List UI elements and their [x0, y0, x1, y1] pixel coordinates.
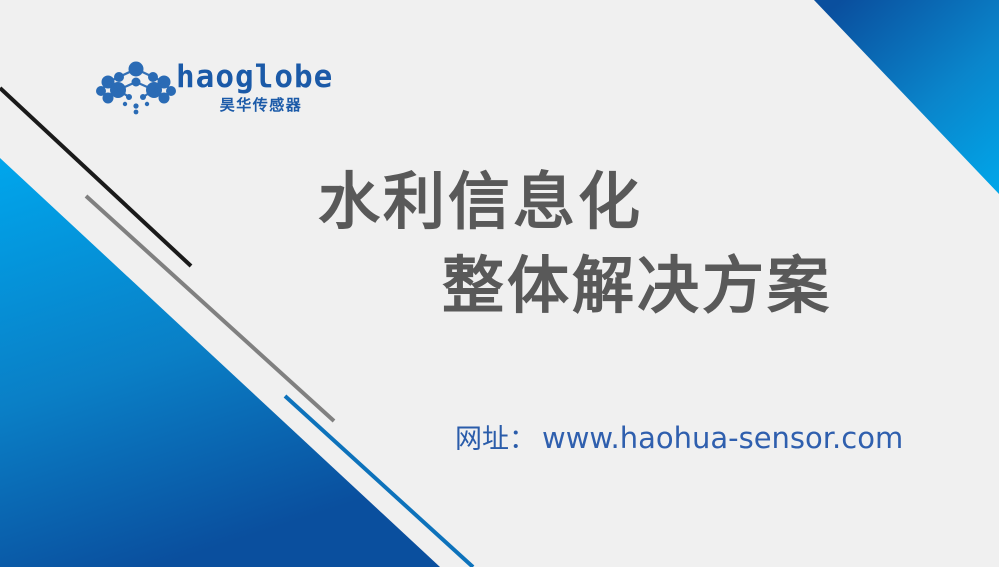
website-url[interactable]: www.haohua-sensor.com	[542, 418, 903, 458]
page-title: 水利信息化 整体解决方案	[0, 160, 999, 328]
haoglobe-molecule-logo-icon	[96, 60, 176, 116]
title-slide: haoglobe 昊华传感器 水利信息化 整体解决方案 网址： www.haoh…	[0, 0, 999, 567]
company-logo: haoglobe 昊华传感器	[96, 58, 326, 120]
logo-subtitle: 昊华传感器	[197, 95, 325, 115]
title-line-2: 整体解决方案	[0, 244, 999, 328]
title-line-1: 水利信息化	[0, 160, 999, 244]
logo-wordmark: haoglobe	[176, 58, 326, 96]
website-line: 网址： www.haohua-sensor.com	[455, 418, 903, 460]
website-label: 网址：	[455, 420, 536, 460]
